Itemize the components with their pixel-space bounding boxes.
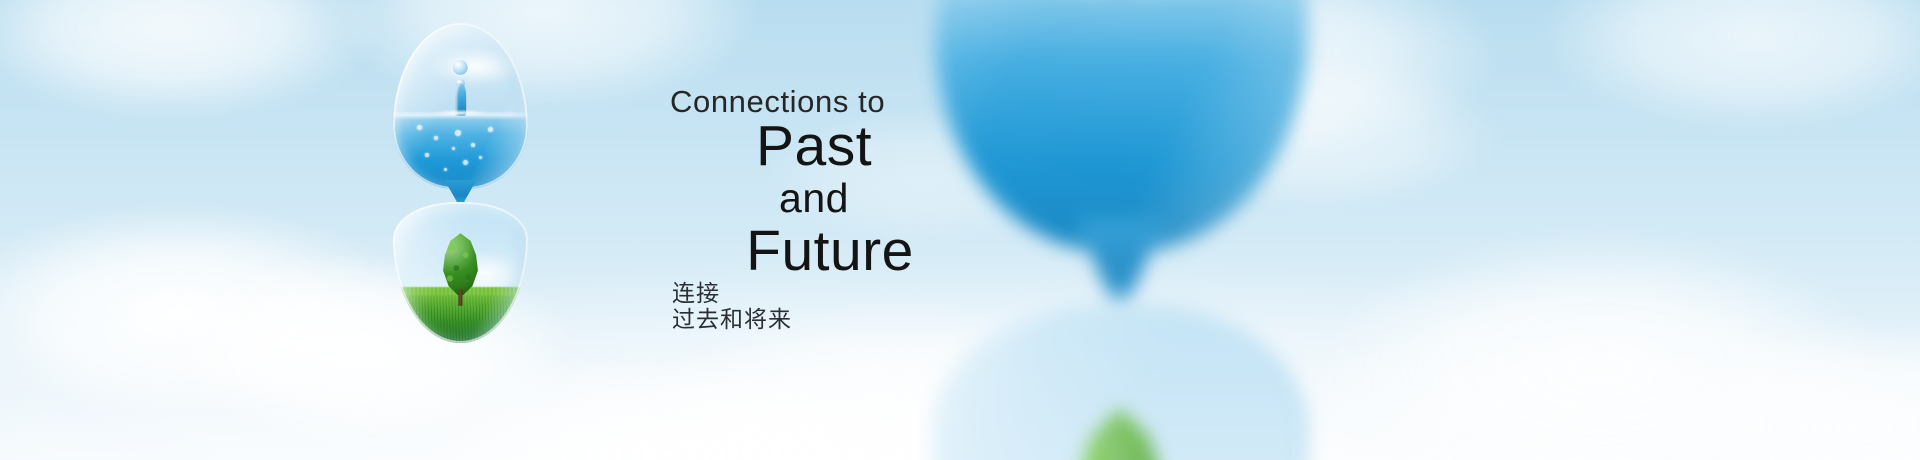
hourglass-top-bulb (393, 23, 528, 189)
water-body (393, 113, 528, 190)
air-bubbles (393, 113, 528, 190)
headline-word-past: Past (668, 117, 1088, 176)
tree-trunk (459, 289, 462, 307)
foreground-hourglass-image (393, 23, 528, 343)
water-droplet-splash-icon (443, 60, 478, 117)
banner-copy-block: Connections to Past and Future 连接 过去和将来 (668, 86, 1088, 334)
tree-icon (438, 233, 484, 306)
headline-word-future: Future (668, 222, 1088, 281)
headline-kicker: Connections to (668, 86, 1088, 117)
cloud-shape (1660, 320, 1920, 460)
cloud-shape (1540, 0, 1920, 130)
tree-icon (1055, 409, 1184, 460)
subheadline-chinese-line2: 过去和将来 (668, 305, 1088, 333)
tree-canopy (1055, 409, 1184, 460)
cloud-shape (420, 355, 920, 460)
droplet-ball (453, 60, 468, 75)
headline-conjunction-and: and (668, 176, 1088, 222)
subheadline-chinese-line1: 连接 (668, 279, 1088, 307)
cloud-shape (0, 0, 380, 120)
hero-banner: Connections to Past and Future 连接 过去和将来 (0, 0, 1920, 460)
cloud-shape (1320, 230, 1880, 460)
cloud-shape (0, 205, 420, 420)
hourglass-bottom-bulb (393, 202, 528, 343)
